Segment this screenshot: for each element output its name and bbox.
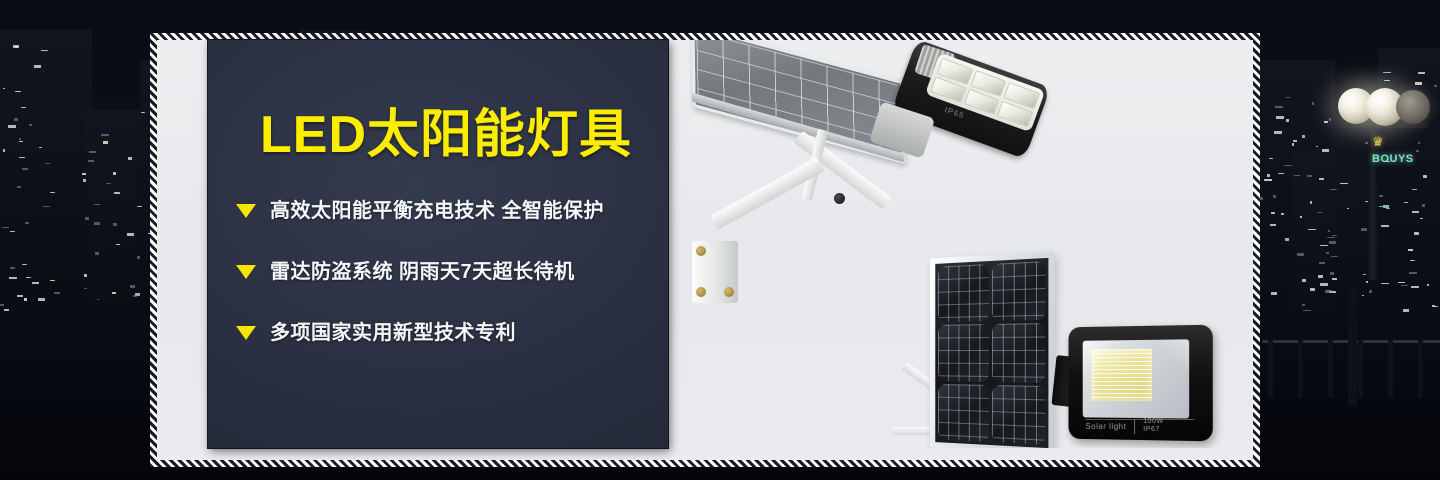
radar-sensor-icon (834, 193, 845, 204)
brand-label: Solar light (1086, 421, 1127, 430)
page-title: LED太阳能灯具 (260, 92, 632, 167)
wall-mount-bracket (692, 241, 738, 303)
triangle-down-icon (236, 265, 256, 279)
cell-block (991, 261, 1045, 321)
triangle-down-icon (236, 204, 256, 218)
feature-text: 高效太阳能平衡充电技术 全智能保护 (270, 198, 604, 224)
product-showcase: IP65 (668, 40, 1260, 448)
flood-light-lens (1083, 339, 1189, 418)
solar-flood-light-image: Solar light 100W IP67 (1066, 326, 1212, 440)
cell-block (991, 323, 1045, 382)
label-divider (1134, 418, 1135, 433)
headline-panel: LED太阳能灯具 高效太阳能平衡充电技术 全智能保护 雷达防盗系统 阴雨天7天超… (208, 40, 668, 448)
bolt-icon (724, 287, 734, 297)
cell-block (938, 264, 989, 322)
lens-bevel (1083, 339, 1189, 418)
spec-group: 100W IP67 (1143, 418, 1164, 434)
feature-text: 多项国家实用新型技术专利 (270, 320, 516, 346)
flood-light-label: Solar light 100W IP67 (1086, 418, 1197, 434)
feature-list: 高效太阳能平衡充电技术 全智能保护 雷达防盗系统 阴雨天7天超长待机 多项国家实… (236, 198, 666, 381)
cell-block (938, 384, 989, 442)
solar-panel-image (926, 255, 1054, 448)
promo-banner: ♛ BOUYS LED太阳能灯具 高效太阳能平衡充电技术 全智能保护 雷达防盗系… (0, 0, 1440, 480)
ip-rating-label: IP67 (1143, 426, 1164, 434)
list-item: 高效太阳能平衡充电技术 全智能保护 (236, 198, 666, 224)
cell-block (991, 385, 1045, 445)
triangle-down-icon (236, 326, 256, 340)
list-item: 多项国家实用新型技术专利 (236, 320, 666, 346)
list-item: 雷达防盗系统 阴雨天7天超长待机 (236, 259, 666, 285)
photovoltaic-cell-grid (935, 258, 1048, 448)
bolt-icon (696, 287, 706, 297)
building-sign-text: BOUYS (1372, 148, 1430, 170)
wattage-label: 100W (1143, 418, 1164, 426)
lamp-globe-icon (1396, 90, 1430, 124)
panel-aluminium-frame (930, 251, 1055, 448)
cell-block (938, 324, 989, 381)
feature-text: 雷达防盗系统 阴雨天7天超长待机 (270, 259, 575, 285)
bolt-icon (696, 246, 706, 256)
